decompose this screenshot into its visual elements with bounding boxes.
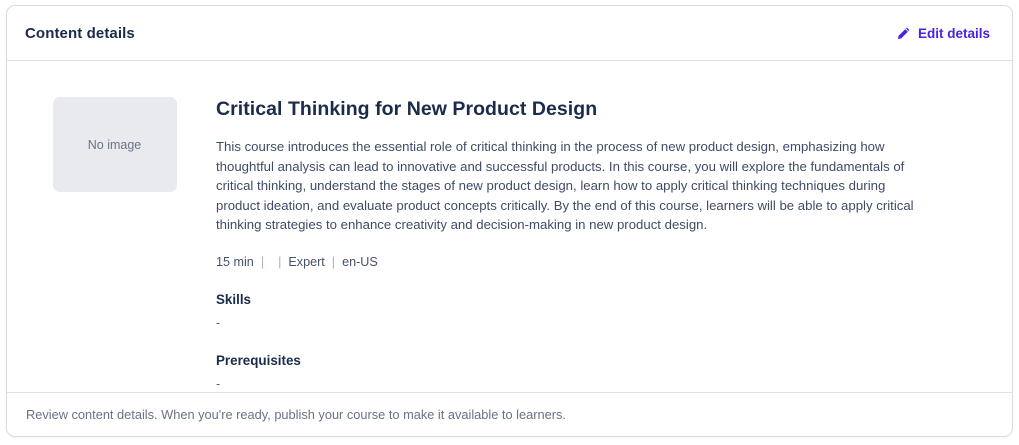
thumbnail-placeholder: No image <box>53 97 177 192</box>
skills-heading: Skills <box>216 292 936 307</box>
meta-duration: 15 min <box>216 255 254 269</box>
page-title: Content details <box>25 25 135 42</box>
edit-details-label: Edit details <box>918 26 990 41</box>
content-details-card: Content details Edit details No image <box>6 5 1013 437</box>
meta-language: en-US <box>342 255 378 269</box>
pencil-icon <box>896 26 911 41</box>
course-description: This course introduces the essential rol… <box>216 137 926 235</box>
card-body: No image Critical Thinking for New Produ… <box>7 61 1012 392</box>
card-footer: Review content details. When you're read… <box>7 392 1012 436</box>
meta-separator: | <box>254 255 271 269</box>
skills-value: - <box>216 316 936 330</box>
edit-details-button[interactable]: Edit details <box>896 26 992 41</box>
meta-level: Expert <box>288 255 324 269</box>
content-row: No image Critical Thinking for New Produ… <box>7 61 1012 391</box>
course-meta-row: 15 min | | Expert | en-US <box>216 255 936 269</box>
content-details-page: Content details Edit details No image <box>0 0 1019 445</box>
card-header: Content details Edit details <box>7 6 1012 61</box>
meta-separator: | <box>325 255 342 269</box>
thumbnail-column: No image <box>7 97 216 192</box>
prerequisites-heading: Prerequisites <box>216 353 936 368</box>
course-detail-column: Critical Thinking for New Product Design… <box>216 97 976 391</box>
course-title: Critical Thinking for New Product Design <box>216 97 936 121</box>
meta-separator: | <box>271 255 288 269</box>
no-image-label: No image <box>88 138 142 152</box>
footer-help-text: Review content details. When you're read… <box>26 407 566 422</box>
prerequisites-value: - <box>216 377 936 391</box>
